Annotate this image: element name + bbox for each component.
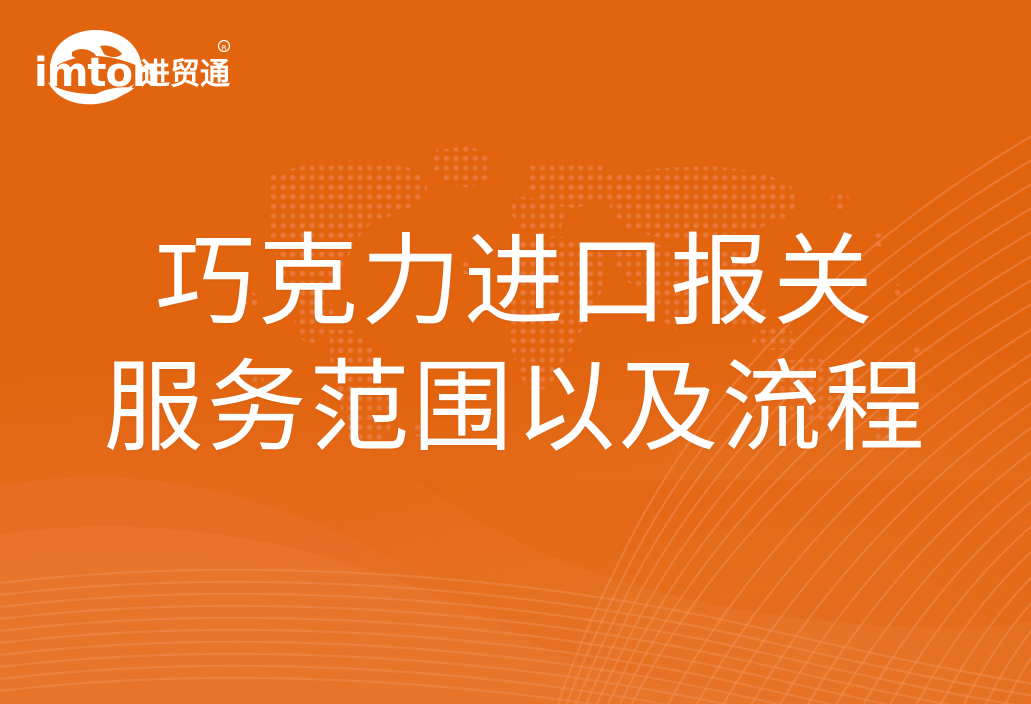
- page-title: 巧克力进口报关 服务范围以及流程: [0, 232, 1031, 458]
- svg-text:R: R: [222, 44, 227, 52]
- logo-chinese-name: 进贸通: [140, 57, 230, 92]
- registered-trademark-icon: R: [219, 41, 230, 53]
- headline-line-1: 巧克力进口报关: [0, 232, 1031, 332]
- headline-line-2: 服务范围以及流程: [0, 358, 1031, 458]
- svg-text:进贸通: 进贸通: [140, 57, 230, 92]
- poster-canvas: imton 进贸通 R 巧克力进口报关 服务范围以及流程: [0, 0, 1031, 704]
- brand-logo[interactable]: imton 进贸通 R: [34, 24, 234, 106]
